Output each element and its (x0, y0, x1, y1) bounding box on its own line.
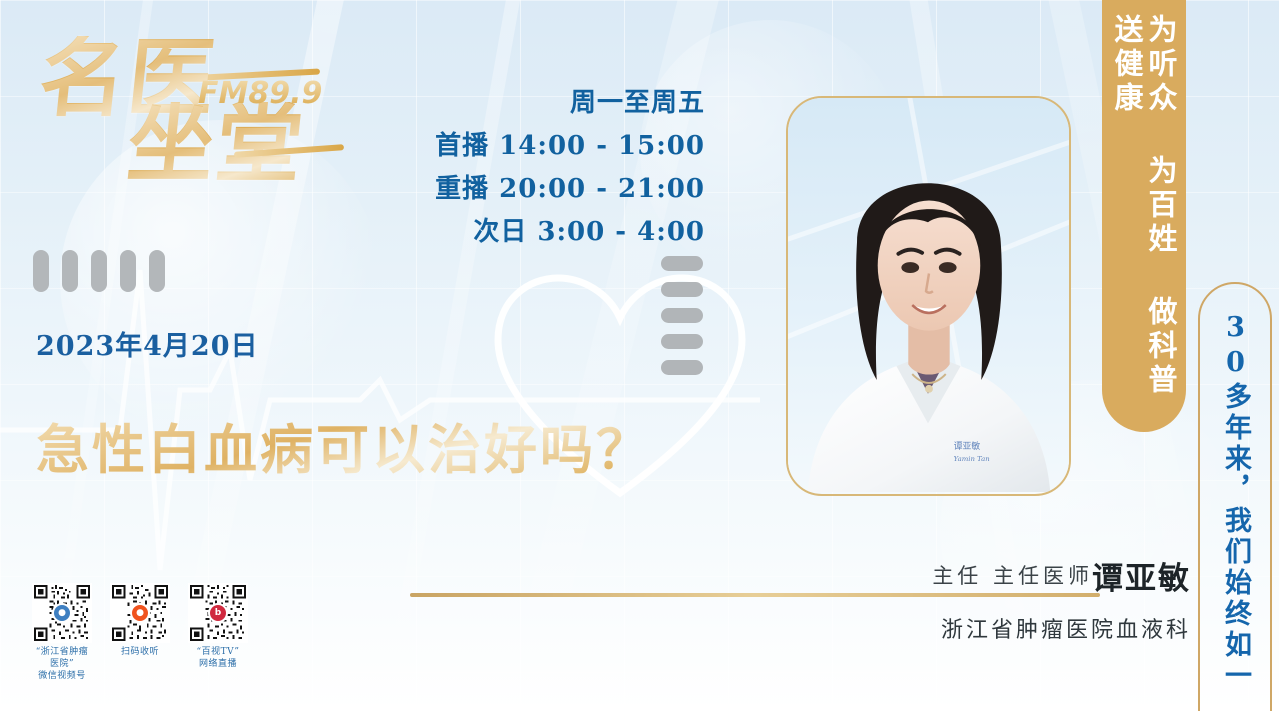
qrcode-label-line2: 网络直播 (190, 658, 246, 670)
qrcode-label-line2: 微信视频号 (34, 670, 90, 682)
bar-1 (33, 250, 49, 292)
logo-line-2: 坐堂 (123, 102, 308, 188)
blue-slogan-panel: 30多年来，我们始终如一 (1198, 282, 1272, 711)
qrcode-label-line1: “浙江省肿瘤医院” (34, 646, 90, 670)
svg-text:谭亚敏: 谭亚敏 (954, 440, 981, 452)
schedule-days: 周一至周五 (430, 82, 705, 125)
pill-2 (661, 282, 703, 297)
pill-4 (661, 334, 703, 349)
gold-slogan-panel: 为听众 为百姓 做科普 送健康 (1102, 0, 1186, 432)
schedule-first-run: 首播 14:00 - 15:00 (430, 125, 705, 168)
bar-2 (62, 250, 78, 292)
broadcast-date: 2023年4月20日 (36, 324, 259, 363)
qr-badge-wechat: ● (52, 603, 72, 623)
doctor-portrait: 谭亚敏 Yamin Tan (788, 98, 1069, 492)
broadcast-schedule: 周一至周五 首播 14:00 - 15:00 重播 20:00 - 21:00 … (430, 82, 705, 254)
left-bar-decoration (33, 250, 165, 292)
qrcode-label-line1: “百视TV” (190, 646, 246, 658)
bar-5 (149, 250, 165, 292)
bar-4 (120, 250, 136, 292)
qrcode-image-baishitv[interactable]: b (190, 585, 246, 641)
logo-frequency: FM89.9 (198, 76, 322, 111)
doctor-position: 主任 主任医师 (932, 560, 1093, 590)
doctor-name: 谭亚敏 (1092, 553, 1191, 598)
schedule-next-day: 次日 3:00 - 4:00 (430, 211, 705, 254)
qrcode-label-listen: 扫码收听 (112, 646, 168, 658)
qrcode-image-listen[interactable]: ● (112, 585, 168, 641)
doctor-department: 浙江省肿瘤医院血液科 (941, 612, 1191, 644)
qr-badge-baishitv: b (208, 603, 228, 623)
blue-slogan-text: 30多年来，我们始终如一 (1219, 312, 1251, 692)
qrcode-label-line1: 扫码收听 (112, 646, 168, 658)
gold-slogan-text: 为听众 为百姓 做科普 送健康 (1110, 14, 1178, 432)
qrcode-label-baishitv: “百视TV” 网络直播 (190, 646, 246, 670)
pill-3 (661, 308, 703, 323)
svg-text:Yamin Tan: Yamin Tan (954, 455, 990, 463)
qrcode-item-listen[interactable]: ● 扫码收听 (112, 585, 168, 682)
heart-ecg-decoration (470, 238, 770, 538)
qrcode-image-wechat[interactable]: ● (34, 585, 90, 641)
schedule-rerun: 重播 20:00 - 21:00 (430, 168, 705, 211)
bar-3 (91, 250, 107, 292)
pill-5 (661, 360, 703, 375)
gold-divider (410, 593, 1100, 597)
program-logo: 名医 坐堂 FM89.9 (36, 30, 326, 180)
qrcode-row: ● “浙江省肿瘤医院” 微信视频号 (34, 585, 246, 682)
pill-bar-decoration (661, 256, 703, 375)
qrcode-item-wechat[interactable]: ● “浙江省肿瘤医院” 微信视频号 (34, 585, 90, 682)
qr-badge-listen: ● (130, 603, 150, 623)
pill-1 (661, 256, 703, 271)
episode-title: 急性白血病可以治好吗？ (36, 418, 652, 482)
qrcode-label-wechat: “浙江省肿瘤医院” 微信视频号 (34, 646, 90, 682)
doctor-photo-frame: 谭亚敏 Yamin Tan (786, 96, 1071, 496)
poster-canvas: 名医 坐堂 FM89.9 2023年4月20日 急性白血病可以治好吗？ 周一至周… (0, 0, 1279, 711)
qrcode-item-baishitv[interactable]: b “百视TV” 网络直播 (190, 585, 246, 682)
